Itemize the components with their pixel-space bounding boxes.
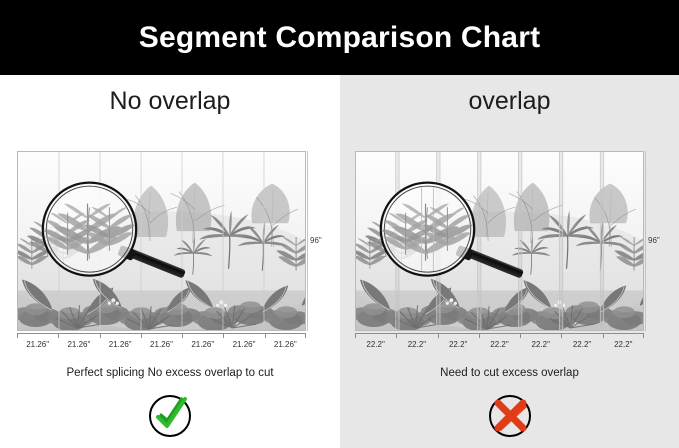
mural-image-right: [355, 151, 644, 331]
segment-label: 22.2": [396, 338, 437, 352]
verdict-left: [0, 393, 340, 439]
mural-image-left: [17, 151, 306, 331]
ruler-labels-right: 22.2" 22.2" 22.2" 22.2" 22.2" 22.2" 22.2…: [355, 338, 644, 352]
comparison-chart-page: Segment Comparison Chart No overlap: [0, 0, 679, 448]
segment-label: 21.26": [141, 338, 182, 352]
panel-heading-right: overlap: [340, 87, 679, 116]
segment-label: 22.2": [603, 338, 644, 352]
panel-caption-right: Need to cut excess overlap: [340, 367, 679, 379]
segment-label: 22.2": [479, 338, 520, 352]
height-label-left: 96": [310, 236, 322, 245]
panel-caption-left: Perfect splicing No excess overlap to cu…: [0, 367, 340, 379]
panel-heading-left: No overlap: [0, 87, 340, 116]
segment-label: 22.2": [520, 338, 561, 352]
segment-label: 21.26": [182, 338, 223, 352]
segment-label: 21.26": [265, 338, 306, 352]
segment-ruler-left: 21.26" 21.26" 21.26" 21.26" 21.26" 21.26…: [17, 333, 306, 355]
cross-mark-icon: [487, 393, 533, 439]
page-title: Segment Comparison Chart: [139, 21, 541, 55]
segment-label: 21.26": [58, 338, 99, 352]
segment-label: 21.26": [223, 338, 264, 352]
jungle-mural-illustration-right: [356, 152, 643, 330]
segment-ruler-right: 22.2" 22.2" 22.2" 22.2" 22.2" 22.2" 22.2…: [355, 333, 644, 355]
segment-label: 21.26": [100, 338, 141, 352]
segment-label: 22.2": [355, 338, 396, 352]
mural-wrap-right: [355, 151, 644, 331]
ruler-labels-left: 21.26" 21.26" 21.26" 21.26" 21.26" 21.26…: [17, 338, 306, 352]
jungle-mural-illustration-left: [18, 152, 305, 330]
height-label-right: 96": [648, 236, 660, 245]
height-guide-right: [645, 151, 646, 331]
verdict-right: [340, 393, 679, 439]
comparison-body: No overlap: [0, 75, 679, 448]
check-mark-icon: [147, 393, 193, 439]
panel-no-overlap: No overlap: [0, 75, 340, 448]
segment-label: 21.26": [17, 338, 58, 352]
panel-overlap: overlap: [340, 75, 679, 448]
segment-label: 22.2": [561, 338, 602, 352]
segment-label: 22.2": [438, 338, 479, 352]
height-guide-left: [307, 151, 308, 331]
page-header: Segment Comparison Chart: [0, 0, 679, 75]
mural-wrap-left: [17, 151, 306, 331]
